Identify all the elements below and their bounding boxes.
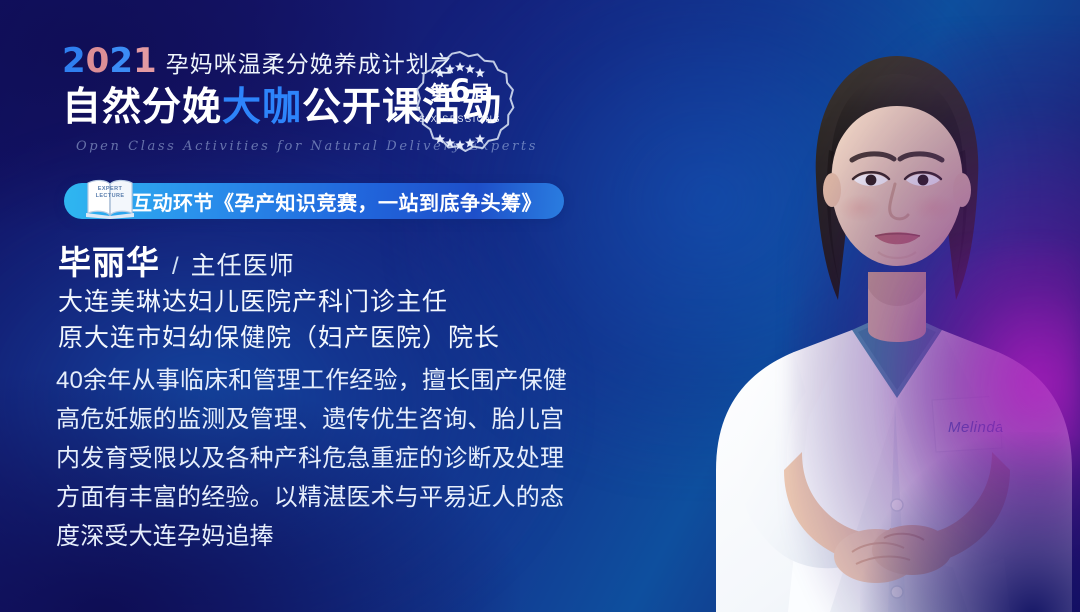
header-top-line: 2021 孕妈咪温柔分娩养成计划之: [62, 44, 622, 82]
seal-suffix: 届: [471, 83, 490, 104]
seal-prefix: 第: [430, 83, 449, 104]
year-digit-2: 0: [86, 41, 110, 81]
seal-english-label: SIX SESSIONS: [404, 114, 516, 124]
speaker-credential-1: 大连美琳达妇儿医院产科门诊主任: [58, 284, 698, 320]
name-role-separator: /: [172, 253, 179, 281]
description-line-2: 高危妊娠的监测及管理、遗传优生咨询、胎儿宫: [56, 401, 656, 440]
year-digit-1: 2: [62, 41, 86, 81]
seal-number: 6: [449, 73, 471, 109]
speaker-name-row: 毕丽华 / 主任医师: [58, 236, 698, 284]
year-digit-4: 1: [133, 41, 157, 81]
session-topic-text: 互动环节《孕产知识竞赛，一站到底争头筹》: [132, 187, 542, 216]
speaker-name: 毕丽华: [58, 236, 160, 284]
open-book-icon: EXPERT LECTURE: [84, 175, 136, 219]
description-line-1: 40余年从事临床和管理工作经验，擅长围产保健: [56, 362, 656, 401]
title-highlight: 大咖: [222, 86, 302, 129]
session-seal-badge: 第6届 SIX SESSIONS: [404, 48, 516, 160]
speaker-role: 主任医师: [191, 246, 295, 282]
header-script-subtitle: Open Class Activities for Natural Delive…: [76, 139, 622, 154]
year-digit-3: 2: [109, 41, 133, 81]
description-line-3: 内发育受限以及各种产科危急重症的诊断及处理: [56, 440, 656, 479]
seal-session-label: 第6届: [404, 76, 516, 107]
session-topic-pill: 互动环节《孕产知识竞赛，一站到底争头筹》: [64, 183, 564, 219]
speaker-credential-2: 原大连市妇幼保健院（妇产医院）院长: [58, 320, 698, 356]
session-topic-banner: 互动环节《孕产知识竞赛，一站到底争头筹》 EXPERT LECTURE: [64, 183, 564, 219]
poster-main-title: 自然分娩大咖公开课活动: [62, 86, 622, 130]
background-navy-corner: [860, 432, 1080, 612]
description-line-4: 方面有丰富的经验。以精湛医术与平易近人的态: [56, 479, 656, 518]
title-segment-1: 自然分娩: [62, 86, 222, 129]
speaker-description: 40余年从事临床和管理工作经验，擅长围产保健 高危妊娠的监测及管理、遗传优生咨询…: [56, 362, 656, 556]
poster-canvas: Melinda: [0, 0, 1080, 612]
description-line-5: 度深受大连孕妈追捧: [56, 518, 656, 557]
speaker-info-block: 毕丽华 / 主任医师 大连美琳达妇儿医院产科门诊主任 原大连市妇幼保健院（妇产医…: [58, 236, 698, 356]
year-label: 2021: [62, 44, 157, 78]
poster-header: 2021 孕妈咪温柔分娩养成计划之 自然分娩大咖公开课活动 Open Class…: [62, 44, 622, 154]
